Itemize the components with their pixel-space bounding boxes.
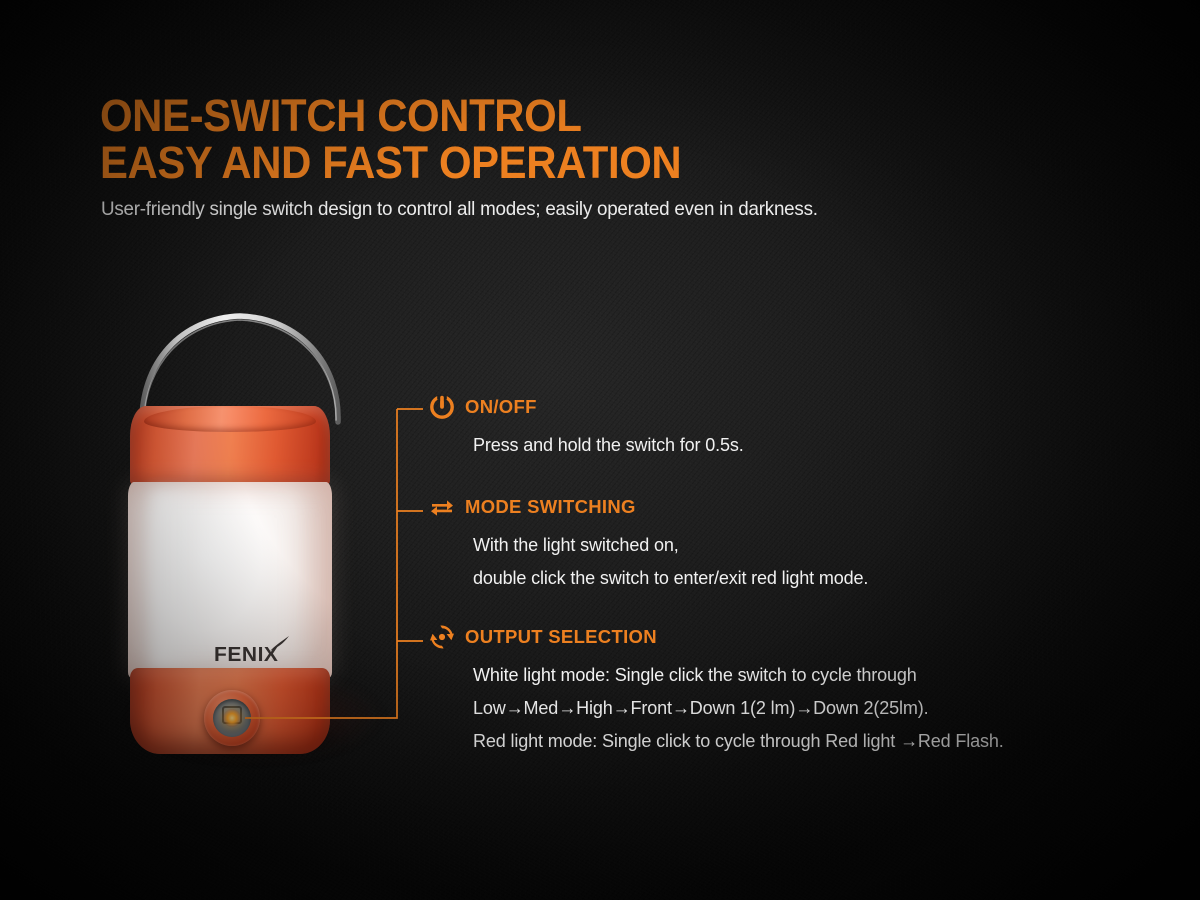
- power-icon: [430, 395, 454, 419]
- feature-heading: MODE SWITCHING: [430, 494, 878, 520]
- cycle-refresh-icon: [430, 625, 454, 649]
- switch-led-indicator: [223, 709, 241, 727]
- promo-slide: ONE-SWITCH CONTROL EASY AND FAST OPERATI…: [0, 0, 1200, 900]
- feature-on-off: ON/OFF Press and hold the switch for 0.5…: [430, 394, 751, 461]
- headline-line-2: EASY AND FAST OPERATION: [100, 139, 681, 186]
- feature-title: ON/OFF: [465, 396, 537, 418]
- feature-line: White light mode: Single click the switc…: [473, 658, 1004, 691]
- headline-line-1: ONE-SWITCH CONTROL: [100, 92, 681, 139]
- feature-heading: OUTPUT SELECTION: [430, 624, 1017, 650]
- feature-line: Low→Med→High→Front→Down 1(2 lm)→Down 2(2…: [473, 691, 1004, 724]
- subtitle-text: User-friendly single switch design to co…: [101, 198, 818, 221]
- headline-group: ONE-SWITCH CONTROL EASY AND FAST OPERATI…: [100, 92, 725, 186]
- feature-heading: ON/OFF: [430, 394, 751, 420]
- lantern-cap-ring: [144, 406, 316, 432]
- feature-title: OUTPUT SELECTION: [465, 626, 657, 648]
- feature-body: Press and hold the switch for 0.5s.: [473, 428, 751, 461]
- feature-body: With the light switched on, double click…: [473, 528, 878, 594]
- feature-line: Press and hold the switch for 0.5s.: [473, 428, 744, 461]
- product-lantern: FENIX: [118, 310, 398, 770]
- diffuser-highlight: [152, 490, 210, 668]
- feature-mode-switching: MODE SWITCHING With the light switched o…: [430, 494, 878, 594]
- feature-line: With the light switched on,: [473, 528, 868, 561]
- star-icon: [268, 636, 290, 652]
- swap-arrows-icon: [430, 495, 454, 519]
- feature-body: White light mode: Single click the switc…: [473, 658, 1017, 757]
- feature-title: MODE SWITCHING: [465, 496, 636, 518]
- feature-output-selection: OUTPUT SELECTION White light mode: Singl…: [430, 624, 1017, 757]
- feature-line: double click the switch to enter/exit re…: [473, 561, 868, 594]
- feature-line: Red light mode: Single click to cycle th…: [473, 724, 1004, 757]
